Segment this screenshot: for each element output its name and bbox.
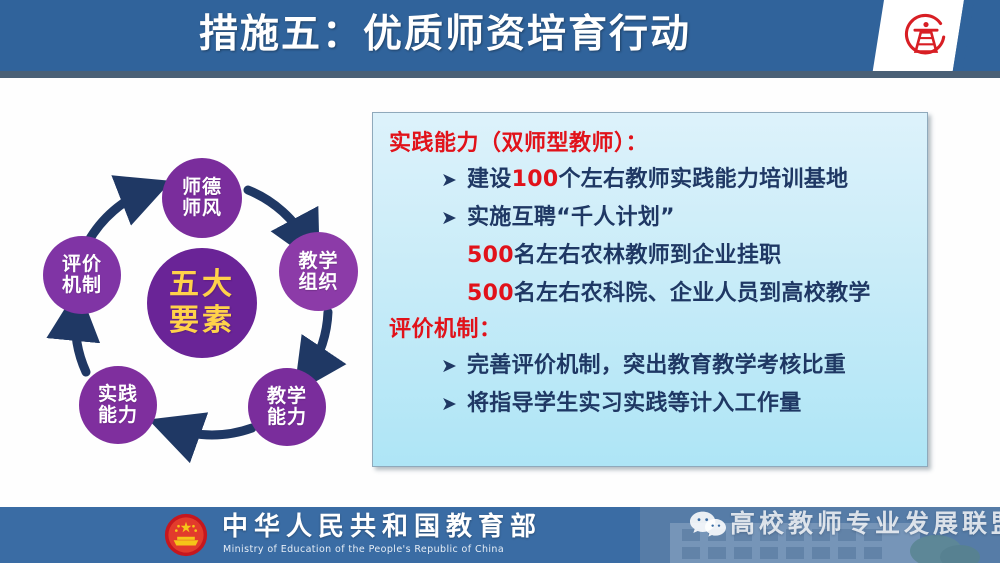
ministry-name-cn: 中华人民共和国教育部 xyxy=(222,512,542,542)
node-shide-line2: 师风 xyxy=(182,198,222,219)
slide-header: 措施五：优质师资培育行动 xyxy=(0,0,1000,71)
slide-root: 措施五：优质师资培育行动 xyxy=(0,0,1000,563)
diagram-node-shide-shifeng: 师德 师风 xyxy=(162,158,242,238)
node-pjjz-line1: 评价 xyxy=(62,254,102,275)
list-item: ➤ 建设100个左右教师实践能力培训基地 xyxy=(389,161,919,199)
diagram-center-node: 五大 要素 xyxy=(147,248,257,358)
node-jxnl-line2: 能力 xyxy=(267,407,307,428)
item-number: 500 xyxy=(467,281,514,306)
list-item-text: 将指导学生实习实践等计入工作量 xyxy=(467,385,802,423)
node-shide-line1: 师德 xyxy=(182,177,222,198)
node-sjnl-line2: 能力 xyxy=(98,405,138,426)
organization-logo-icon xyxy=(900,10,952,62)
list-item-text: 建设100个左右教师实践能力培训基地 xyxy=(467,161,848,199)
diagram-node-jiaoxue-zuzhi: 教学 组织 xyxy=(279,232,358,311)
center-line-1: 五大 xyxy=(169,267,235,303)
arrow-bullet-icon: ➤ xyxy=(441,161,467,199)
center-line-2: 要素 xyxy=(169,303,235,339)
item-post: 名左右农科院、企业人员到高校教学 xyxy=(514,281,871,306)
list-item: ➤ 将指导学生实习实践等计入工作量 xyxy=(389,385,919,423)
node-zuzhi-line2: 组织 xyxy=(298,272,338,293)
item-number: 100 xyxy=(512,167,559,192)
item-pre: 建设 xyxy=(467,167,512,192)
item-post: 个左右教师实践能力培训基地 xyxy=(558,167,848,192)
diagram-node-shijian-nengli: 实践 能力 xyxy=(79,366,157,444)
arrow-bullet-icon: ➤ xyxy=(441,199,467,237)
node-sjnl-line1: 实践 xyxy=(98,384,138,405)
list-item: 500名左右农科院、企业人员到高校教学 xyxy=(389,275,919,313)
slide-footer: 中华人民共和国教育部 Ministry of Education of the … xyxy=(0,507,1000,563)
ministry-name-en: Ministry of Education of the People's Re… xyxy=(223,544,504,556)
page-title: 措施五：优质师资培育行动 xyxy=(0,6,890,64)
national-emblem-icon xyxy=(164,513,208,557)
header-underline xyxy=(0,71,1000,78)
list-item-text: 实施互聘“千人计划” xyxy=(467,199,675,237)
arrow-bullet-icon: ➤ xyxy=(441,347,467,385)
diagram-node-jiaoxue-nengli: 教学 能力 xyxy=(248,368,326,446)
list-item: ➤ 实施互聘“千人计划” xyxy=(389,199,919,237)
wechat-icon xyxy=(688,509,728,539)
list-item: 500名左右农林教师到企业挂职 xyxy=(389,237,919,275)
node-jxnl-line1: 教学 xyxy=(267,386,307,407)
section2-heading: 评价机制： xyxy=(389,313,919,347)
node-pjjz-line2: 机制 xyxy=(62,275,102,296)
item-number: 500 xyxy=(467,243,514,268)
node-zuzhi-line1: 教学 xyxy=(298,251,338,272)
five-elements-diagram: 五大 要素 师德 师风 教学 组织 教学 能力 实践 能力 评价 机制 xyxy=(20,140,360,470)
arrow-bullet-icon: ➤ xyxy=(441,385,467,423)
alliance-watermark-text: 高校教师专业发展联盟 xyxy=(730,507,1000,541)
section1-heading: 实践能力（双师型教师）： xyxy=(389,127,919,161)
diagram-node-pingjia-jizhi: 评价 机制 xyxy=(43,236,121,314)
list-item-text: 完善评价机制，突出教育教学考核比重 xyxy=(467,347,846,385)
content-panel: 实践能力（双师型教师）： ➤ 建设100个左右教师实践能力培训基地 ➤ 实施互聘… xyxy=(372,112,928,467)
list-item: ➤ 完善评价机制，突出教育教学考核比重 xyxy=(389,347,919,385)
item-post: 名左右农林教师到企业挂职 xyxy=(514,243,782,268)
